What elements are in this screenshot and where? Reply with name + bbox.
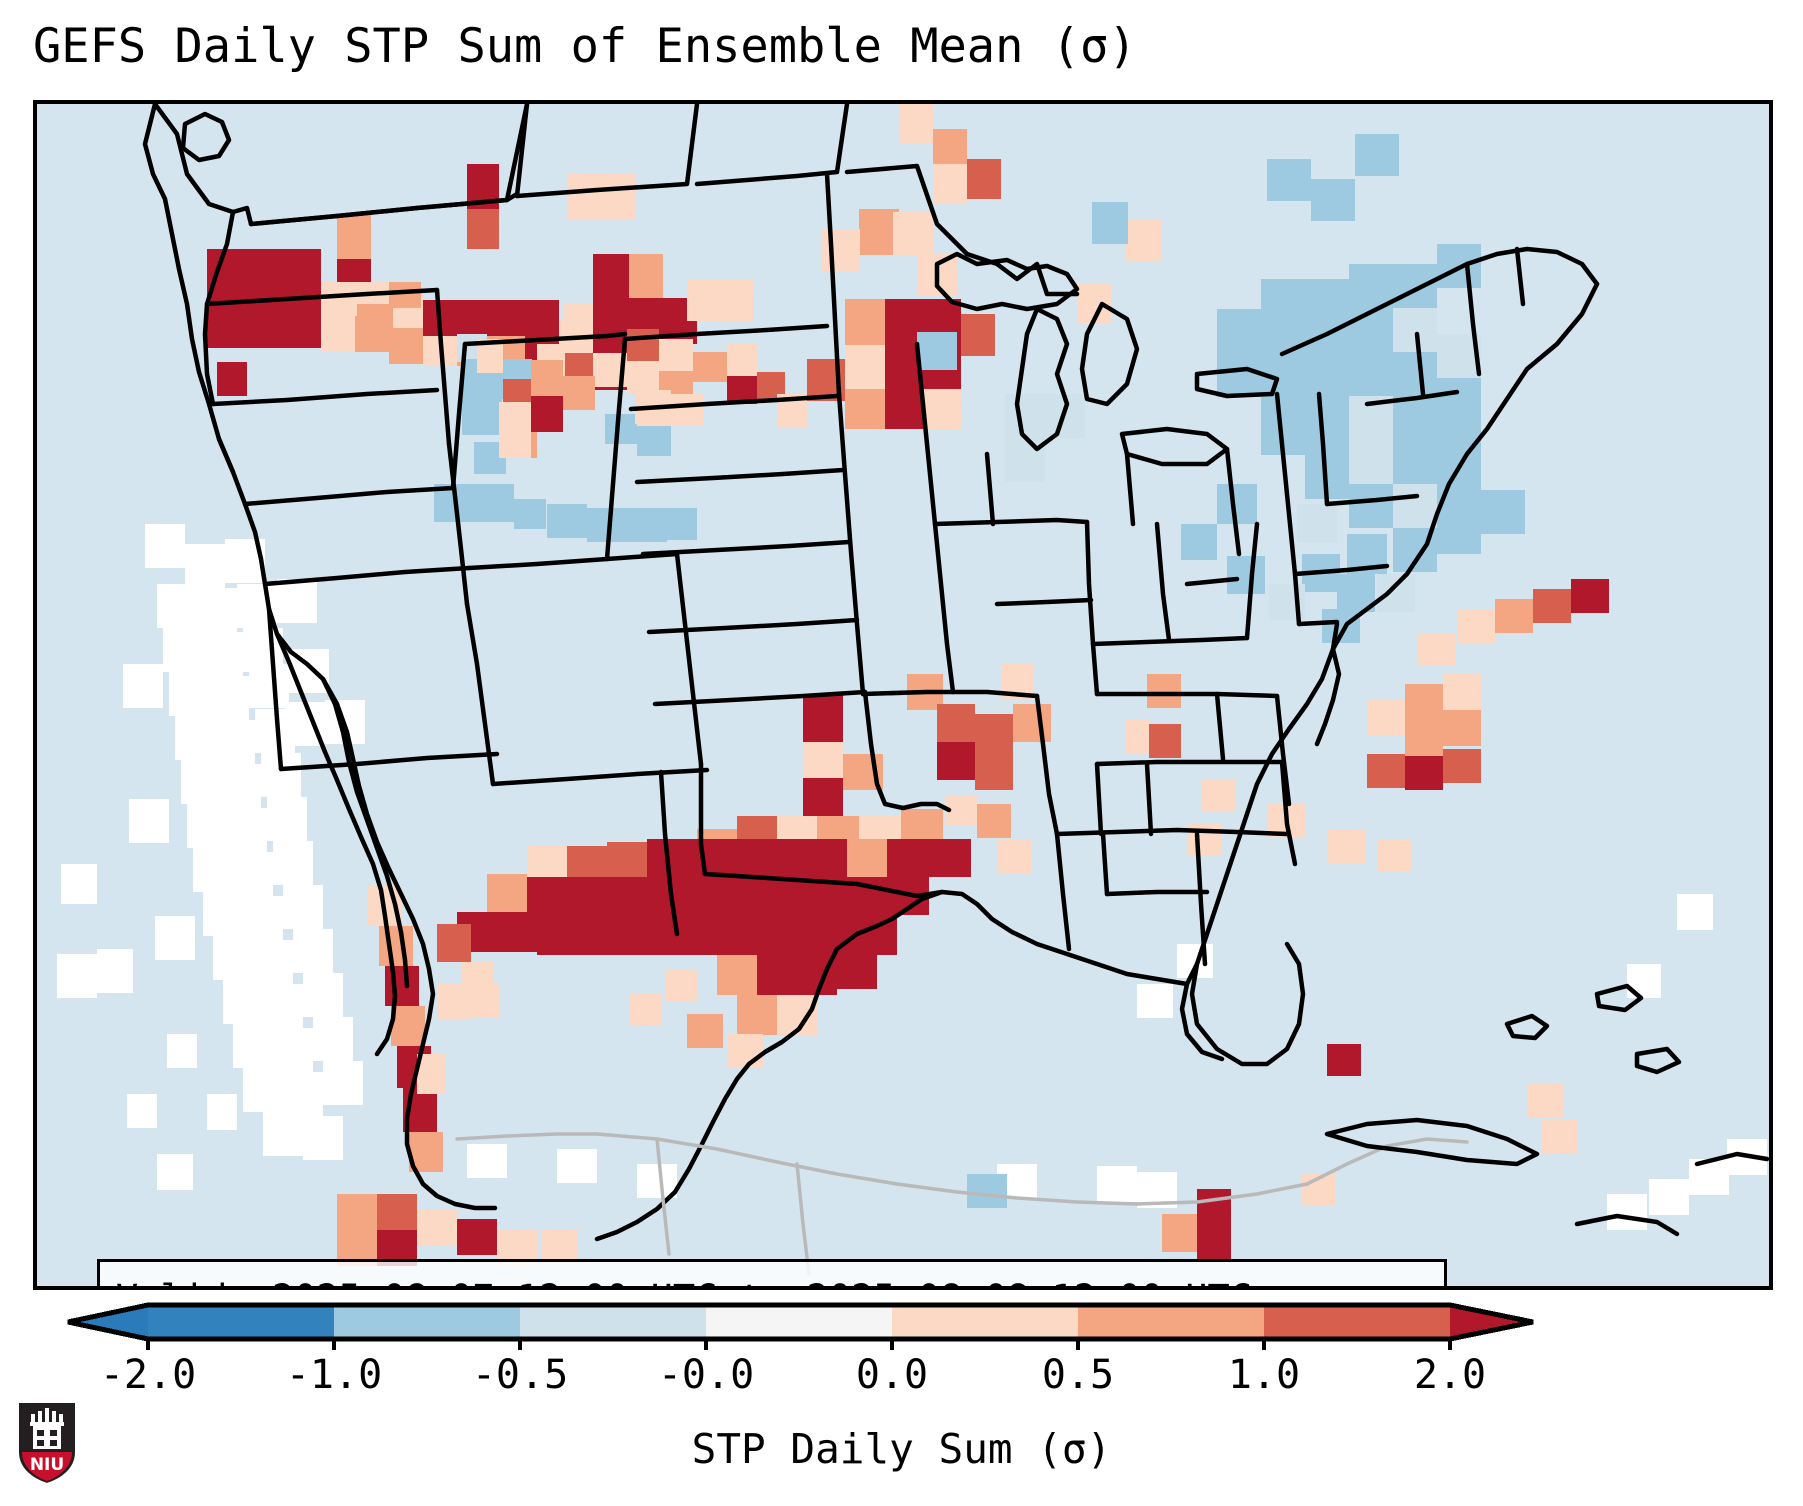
- info-box: Valid: 2025-08-07 12:00 UTC to 2025-08-0…: [97, 1259, 1447, 1290]
- colorbar-band-2: [520, 1305, 706, 1339]
- colorbar-tick-label-5: 0.5: [1042, 1352, 1114, 1398]
- colorbar[interactable]: [33, 1300, 1773, 1350]
- colorbar-tick-label-3: -0.0: [658, 1352, 754, 1398]
- niu-logo-text: NIU: [30, 1455, 64, 1475]
- colorbar-axis-label: STP Daily Sum (σ): [0, 1425, 1803, 1473]
- colorbar-canvas: [33, 1300, 1773, 1350]
- colorbar-band-4: [892, 1305, 1078, 1339]
- colorbar-tick-label-4: 0.0: [856, 1352, 928, 1398]
- colorbar-band-3: [706, 1305, 892, 1339]
- colorbar-band-6: [1264, 1305, 1450, 1339]
- page-title: GEFS Daily STP Sum of Ensemble Mean (σ): [33, 12, 1773, 82]
- niu-logo: NIU: [16, 1400, 78, 1486]
- colorbar-tick-label-6: 1.0: [1228, 1352, 1300, 1398]
- colorbar-band-0: [148, 1305, 334, 1339]
- colorbar-tick-label-0: -2.0: [100, 1352, 196, 1398]
- colorbar-tick-label-7: 2.0: [1414, 1352, 1486, 1398]
- map-panel[interactable]: Valid: 2025-08-07 12:00 UTC to 2025-08-0…: [33, 100, 1773, 1290]
- map-canvas: [37, 104, 1769, 1286]
- colorbar-band-5: [1078, 1305, 1264, 1339]
- colorbar-tick-label-1: -1.0: [286, 1352, 382, 1398]
- info-valid-line: Valid: 2025-08-07 12:00 UTC to 2025-08-0…: [116, 1270, 1428, 1290]
- colorbar-tick-label-2: -0.5: [472, 1352, 568, 1398]
- colorbar-band-1: [334, 1305, 520, 1339]
- colorbar-bands: [68, 1305, 1533, 1339]
